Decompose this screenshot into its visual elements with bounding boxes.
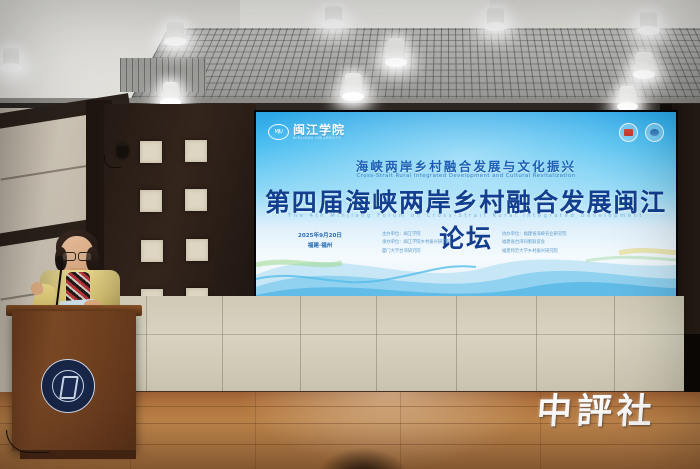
stage-panel-wall: [104, 296, 684, 392]
screen-logo-minjiang: MJU 闽江学院 MINJIANG UNIVERSITY: [268, 124, 345, 140]
screenshot-root: MJU 闽江学院 MINJIANG UNIVERSITY 海峡两岸乡村融合发展与…: [0, 0, 700, 469]
panel-seam: [222, 296, 223, 392]
panel-seam: [300, 296, 301, 392]
floor-plank-seam: [255, 392, 256, 469]
event-date: 2025年9月20日: [298, 232, 342, 242]
event-place: 福建·福州: [298, 242, 342, 252]
ceiling-lamp: [325, 6, 342, 24]
logo-mark-text: MJU: [275, 129, 283, 135]
ceiling-lamp: [3, 48, 19, 68]
wall-square: [141, 240, 163, 262]
screen-subtitle-en: Cross-Strait Rural Integrated Developmen…: [256, 173, 676, 179]
ceiling-lamp: [640, 12, 657, 31]
ceiling-lamp: [388, 38, 404, 63]
screen-organizers-col2: 协办单位：福建省海峡农业研究院 福建省台湾同胞联谊会 福建师范大学乡村振兴研究院: [502, 231, 566, 256]
watermark-logo: 中評社: [535, 383, 659, 434]
ceiling-lamp: [487, 8, 504, 27]
wall-square: [140, 190, 162, 212]
ceiling-lamp: [620, 86, 635, 107]
led-screen-bezel: MJU 闽江学院 MINJIANG UNIVERSITY 海峡两岸乡村融合发展与…: [254, 110, 678, 299]
panel-seam: [376, 296, 377, 392]
organizer-line: 厦门大学台湾研究院: [382, 248, 451, 256]
panel-seam: [536, 296, 537, 392]
ceiling-lamp: [345, 73, 361, 97]
ceiling-lamp: [163, 82, 178, 103]
wall-square: [140, 141, 162, 163]
organizer-line: 主办单位：闽江学院: [382, 231, 451, 239]
organizer-line: 福建师范大学乡村振兴研究院: [502, 248, 566, 256]
organizer-line: 协办单位：福建省海峡农业研究院: [502, 231, 566, 239]
panel-seam-h: [104, 334, 684, 335]
minjiang-seal-icon: MJU: [268, 124, 289, 140]
screen-event-info: 2025年9月20日 福建·福州: [298, 232, 342, 252]
organizer-line: 承办单位：闽江学院乡村振兴研究院: [382, 239, 451, 247]
screen-title-en: The 4th Minjiang Forum on Cross-Strait R…: [256, 213, 676, 219]
logo-name-en: MINJIANG UNIVERSITY: [293, 136, 345, 140]
organizer-line: 福建省台湾同胞联谊会: [502, 239, 566, 247]
panel-seam: [456, 296, 457, 392]
ceiling-lamp: [636, 52, 652, 75]
seal-inner-ring: [52, 370, 84, 402]
security-camera-icon: [117, 145, 128, 158]
wall-square: [185, 140, 207, 162]
university-seal-icon: [41, 359, 95, 413]
wall-square: [186, 239, 208, 261]
partner-badge-icon: [619, 123, 638, 142]
led-screen: MJU 闽江学院 MINJIANG UNIVERSITY 海峡两岸乡村融合发展与…: [256, 112, 676, 297]
speaker-glasses-icon: [62, 252, 92, 259]
partner-badge-icon: [645, 123, 664, 142]
logo-name-cn: 闽江学院: [293, 124, 345, 136]
panel-seam: [614, 296, 615, 392]
screen-organizers-col1: 主办单位：闽江学院 承办单位：闽江学院乡村振兴研究院 厦门大学台湾研究院: [382, 231, 451, 256]
panel-seam: [146, 296, 147, 392]
screen-partner-logos: [619, 123, 664, 142]
wall-square: [185, 189, 207, 211]
ceiling-lamp: [167, 22, 184, 42]
